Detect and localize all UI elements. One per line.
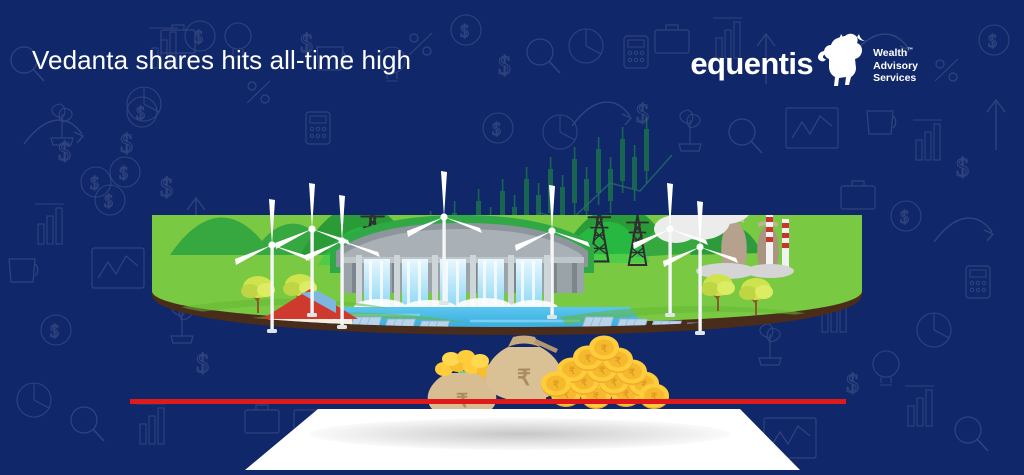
delivery-truck [212, 343, 256, 370]
svg-text:₹: ₹ [517, 365, 531, 390]
bull-icon [815, 32, 867, 86]
brand-logo[interactable]: equentis Wealth™ Advisory Services [690, 36, 918, 90]
banner-root: $ $ [0, 0, 1024, 475]
logo-tagline-line2: Advisory [873, 60, 918, 72]
logo-wordmark: equentis [690, 48, 813, 79]
stage-platform [0, 404, 1024, 475]
logo-tagline-line1: Wealth [873, 47, 907, 59]
logo-tagline-line3: Services [873, 72, 916, 84]
gold-coin-pile [541, 336, 669, 410]
page-title: Vedanta shares hits all-time high [32, 45, 411, 76]
logo-tagline: Wealth™ Advisory Services [873, 47, 918, 85]
green-energy-island-illustration: ₹ [0, 95, 1024, 415]
trademark-icon: ™ [907, 47, 913, 53]
